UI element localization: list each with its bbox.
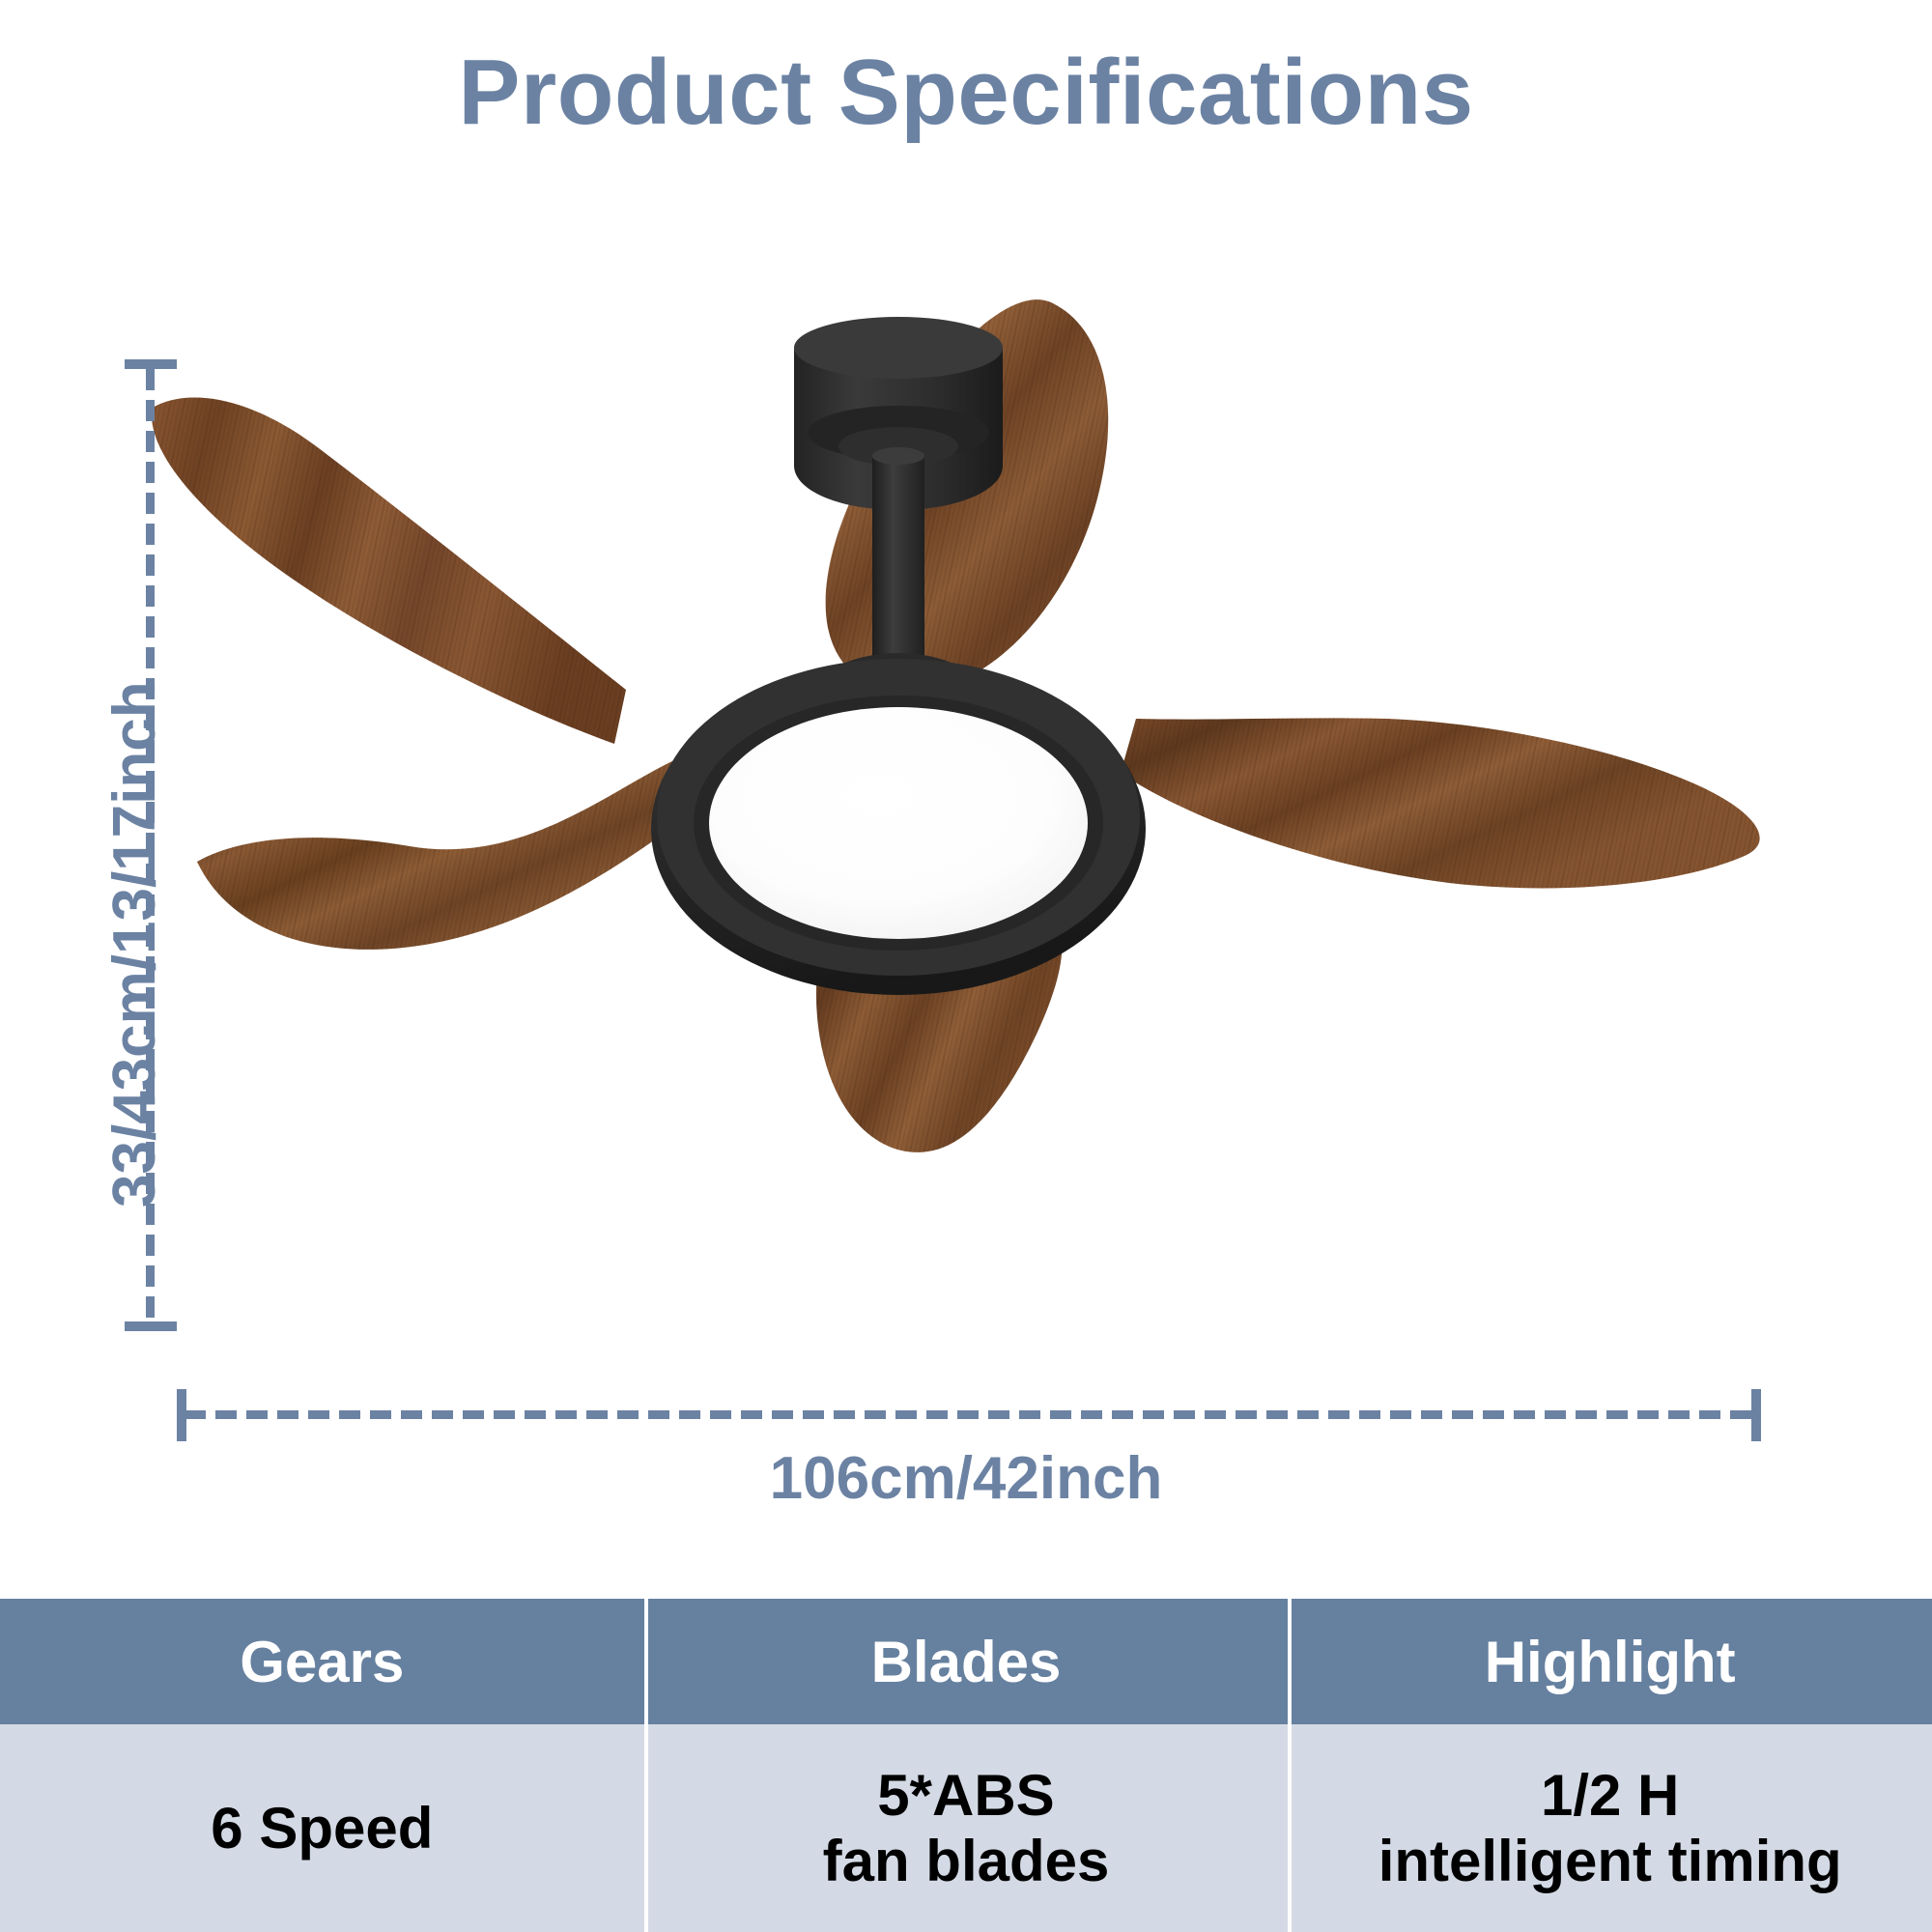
height-dimension-label: 33/43cm/13/17inch [100,681,169,1207]
fan-blade-right [1121,718,1760,888]
fan-blade-left-lower [197,759,694,950]
gears-value: 6 Speed [211,1796,433,1861]
fan-blade-upper-left [152,398,626,744]
blades-value-line1: 5*ABS [823,1763,1110,1829]
height-dim-bottom-cap [125,1321,177,1331]
width-dim-right-cap [1751,1389,1761,1441]
blades-value-line2: fan blades [823,1829,1110,1894]
specification-table: Gears Blades Highlight 6 Speed 5*ABS fan… [0,1599,1932,1932]
table-cell-highlight: 1/2 H intelligent timing [1288,1724,1932,1932]
highlight-value-line2: intelligent timing [1378,1829,1842,1894]
table-header-blades: Blades [644,1599,1289,1724]
width-dim-line [185,1410,1759,1419]
product-illustration [0,290,1932,1352]
table-cell-blades: 5*ABS fan blades [644,1724,1289,1932]
led-light-fixture [651,659,1146,995]
table-header-gears: Gears [0,1599,644,1724]
ceiling-fan-svg [0,290,1932,1352]
led-diffuser [709,707,1088,939]
table-cell-gears: 6 Speed [0,1724,644,1932]
table-header-highlight: Highlight [1288,1599,1932,1724]
table-row: 6 Speed 5*ABS fan blades 1/2 H intellige… [0,1724,1932,1932]
table-header-row: Gears Blades Highlight [0,1599,1932,1724]
width-dimension-label: 106cm/42inch [0,1444,1932,1513]
height-dim-top-cap [125,359,177,369]
page-title: Product Specifications [0,44,1932,142]
highlight-value-line1: 1/2 H [1378,1763,1842,1829]
